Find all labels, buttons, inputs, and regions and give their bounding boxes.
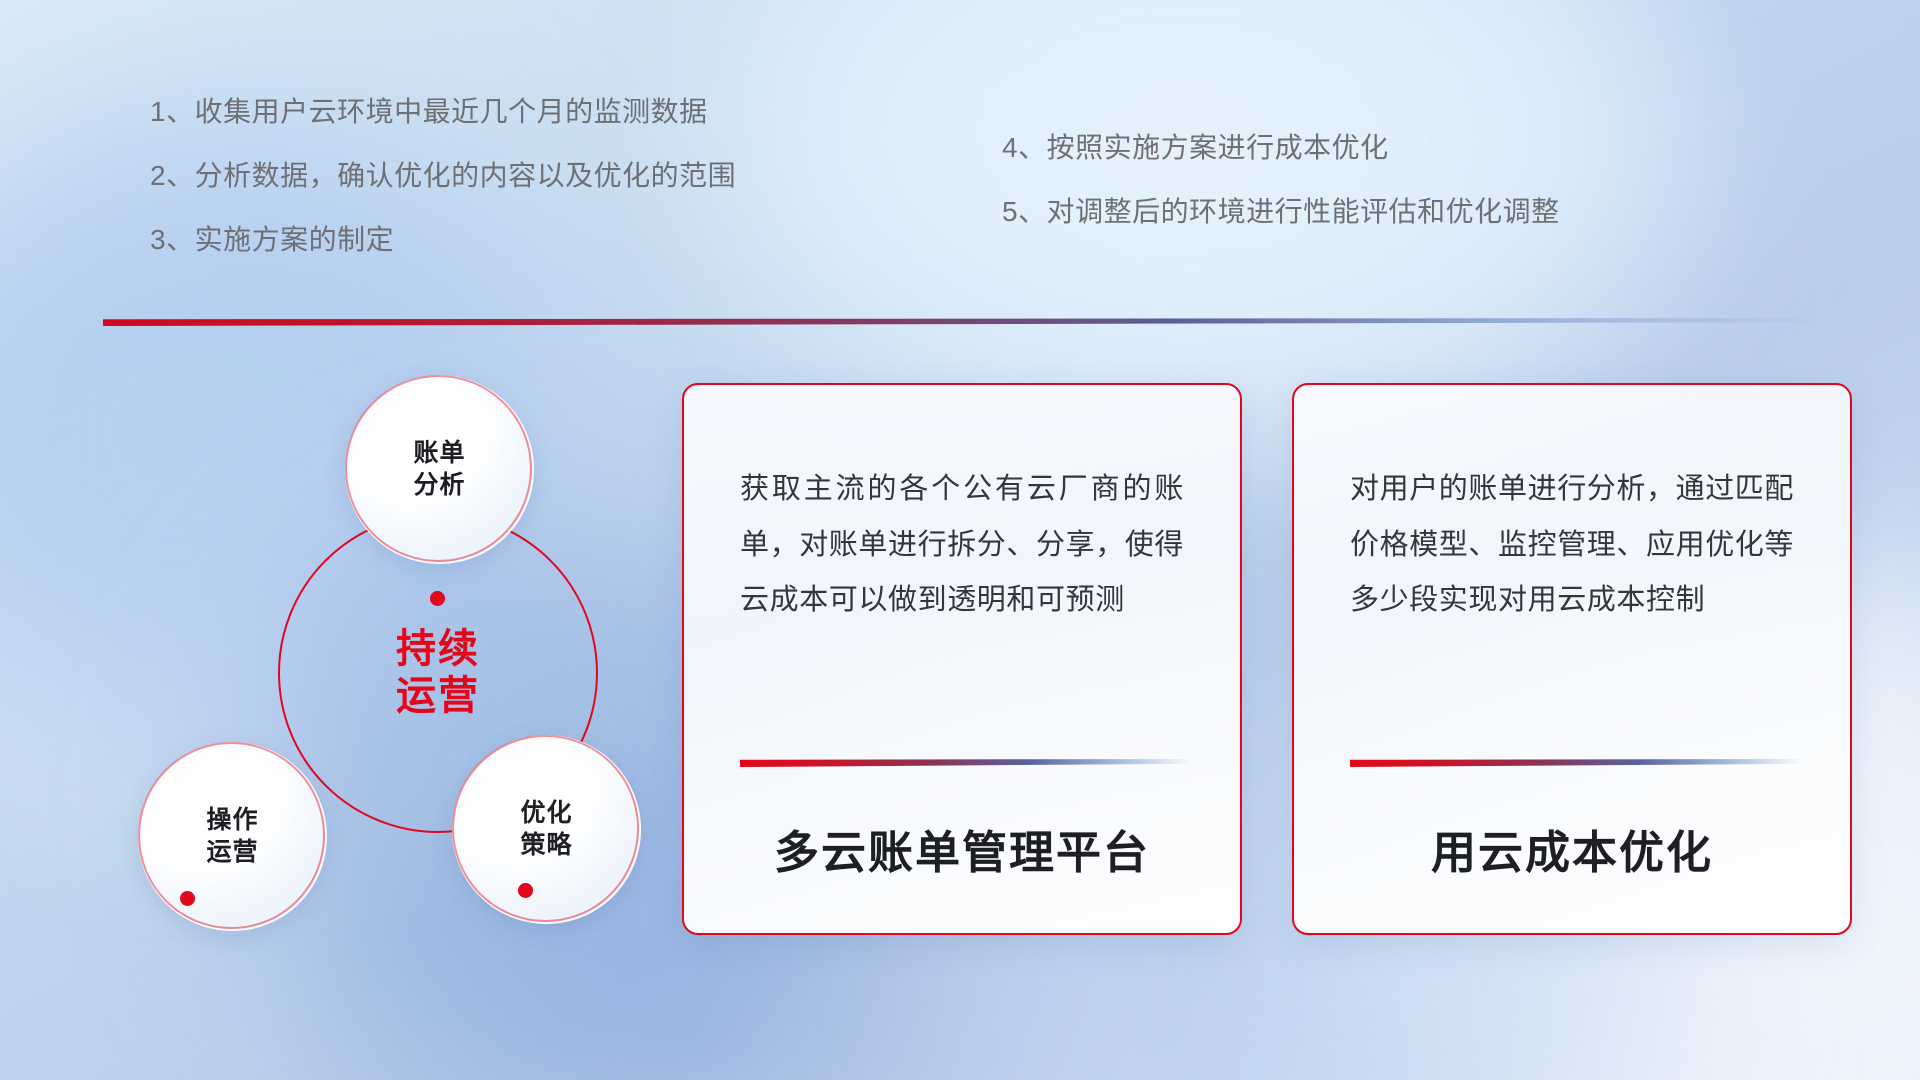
steps-column-left: 1、收集用户云环境中最近几个月的监测数据 2、分析数据，确认优化的内容以及优化的… — [150, 98, 736, 290]
node-dot-icon — [430, 591, 445, 606]
step-item: 2、分析数据，确认优化的内容以及优化的范围 — [150, 162, 736, 190]
node-dot-icon — [180, 891, 195, 906]
section-divider — [103, 318, 1825, 326]
bubble-outline — [452, 735, 639, 922]
step-item: 4、按照实施方案进行成本优化 — [1002, 134, 1560, 162]
slide-canvas: 1、收集用户云环境中最近几个月的监测数据 2、分析数据，确认优化的内容以及优化的… — [0, 0, 1920, 1080]
node-dot-icon — [518, 883, 533, 898]
gradient-rule — [740, 759, 1192, 767]
venn-diagram: 持续运营 账单分析 操作运营 优化策略 — [100, 345, 660, 945]
gradient-rule — [1350, 759, 1802, 767]
step-item: 3、实施方案的制定 — [150, 226, 736, 254]
card-divider — [740, 759, 1192, 767]
step-item: 1、收集用户云环境中最近几个月的监测数据 — [150, 98, 736, 126]
card-divider — [1350, 759, 1802, 767]
gradient-rule — [103, 318, 1825, 326]
card-body-text: 获取主流的各个公有云厂商的账单，对账单进行拆分、分享，使得云成本可以做到透明和可… — [684, 385, 1240, 629]
bubble-outline — [138, 742, 325, 929]
feature-card-cost-optimization[interactable]: 对用户的账单进行分析，通过匹配价格模型、监控管理、应用优化等多少段实现对用云成本… — [1292, 383, 1852, 935]
center-label-text: 持续运营 — [396, 626, 480, 720]
bubble-outline — [345, 375, 532, 562]
step-item: 5、对调整后的环境进行性能评估和优化调整 — [1002, 198, 1560, 226]
card-body-text: 对用户的账单进行分析，通过匹配价格模型、监控管理、应用优化等多少段实现对用云成本… — [1294, 385, 1850, 629]
steps-column-right: 4、按照实施方案进行成本优化 5、对调整后的环境进行性能评估和优化调整 — [1002, 134, 1560, 262]
card-title: 多云账单管理平台 — [684, 816, 1240, 881]
feature-card-multicloud-billing[interactable]: 获取主流的各个公有云厂商的账单，对账单进行拆分、分享，使得云成本可以做到透明和可… — [682, 383, 1242, 935]
card-title: 用云成本优化 — [1294, 816, 1850, 881]
